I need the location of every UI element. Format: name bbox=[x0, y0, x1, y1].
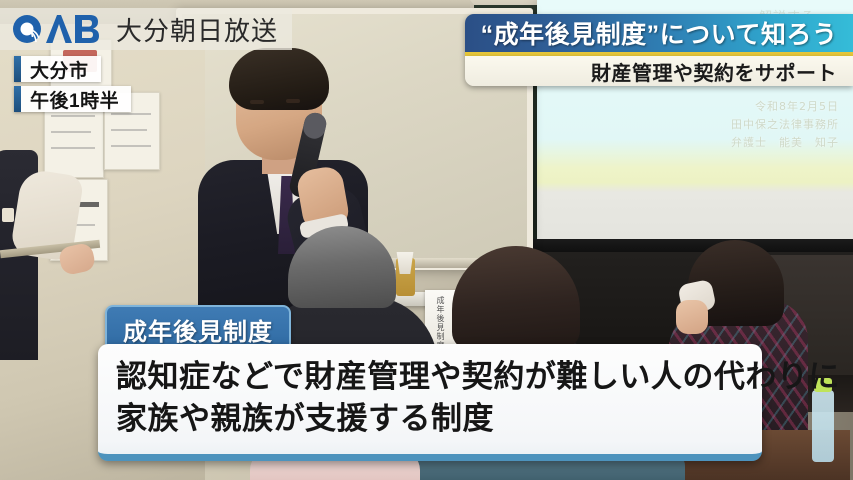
channel-bug: 大分朝日放送 bbox=[0, 8, 292, 50]
speaker-eye bbox=[286, 99, 300, 103]
time-chip-accent bbox=[14, 86, 21, 112]
headline-main-bar: “成年後見制度”について知ろう bbox=[465, 14, 853, 56]
location-chip: 大分市 bbox=[14, 56, 101, 82]
slide-body: 令和8年2月5日 田中保之法律事務所 弁護士 能美 知子 bbox=[731, 98, 839, 152]
caption-line: 家族や親族が支援する制度 bbox=[116, 398, 744, 440]
water-bottle bbox=[812, 390, 834, 462]
station-name: 大分朝日放送 bbox=[116, 11, 278, 48]
speaker-eye bbox=[250, 100, 264, 104]
time-chip-label: 午後1時半 bbox=[21, 86, 131, 113]
time-chip: 午後1時半 bbox=[14, 86, 131, 112]
speaker-hair bbox=[229, 48, 329, 110]
slide-line-3: 弁護士 能美 知子 bbox=[731, 134, 839, 152]
name-badge bbox=[2, 208, 14, 222]
caption-box: 認知症などで財産管理や契約が難しい人の代わりに 家族や親族が支援する制度 bbox=[98, 344, 762, 461]
caption-line: 認知症などで財産管理や契約が難しい人の代わりに bbox=[116, 356, 744, 398]
audience-member-hand bbox=[676, 300, 708, 334]
headline-sub-text: 財産管理や契約をサポート bbox=[591, 57, 837, 86]
caption-tag-label: 成年後見制度 bbox=[123, 319, 273, 346]
slide-line-1: 令和8年2月5日 bbox=[731, 98, 839, 116]
headline-main-text: “成年後見制度”について知ろう bbox=[481, 15, 838, 51]
headline-sub-bar: 財産管理や契約をサポート bbox=[465, 56, 853, 86]
headline-banner: “成年後見制度”について知ろう 財産管理や契約をサポート bbox=[465, 14, 853, 86]
name-card-text: 成年後見制度 bbox=[435, 296, 446, 350]
location-chip-accent bbox=[14, 56, 21, 82]
location-chip-label: 大分市 bbox=[21, 56, 101, 83]
slide-line-2: 田中保之法律事務所 bbox=[731, 116, 839, 134]
broadcast-screen: 解説する… 令和8年2月5日 田中保之法律事務所 弁護士 能美 知子 bbox=[0, 0, 853, 480]
oab-circle-logo-icon bbox=[12, 14, 104, 44]
